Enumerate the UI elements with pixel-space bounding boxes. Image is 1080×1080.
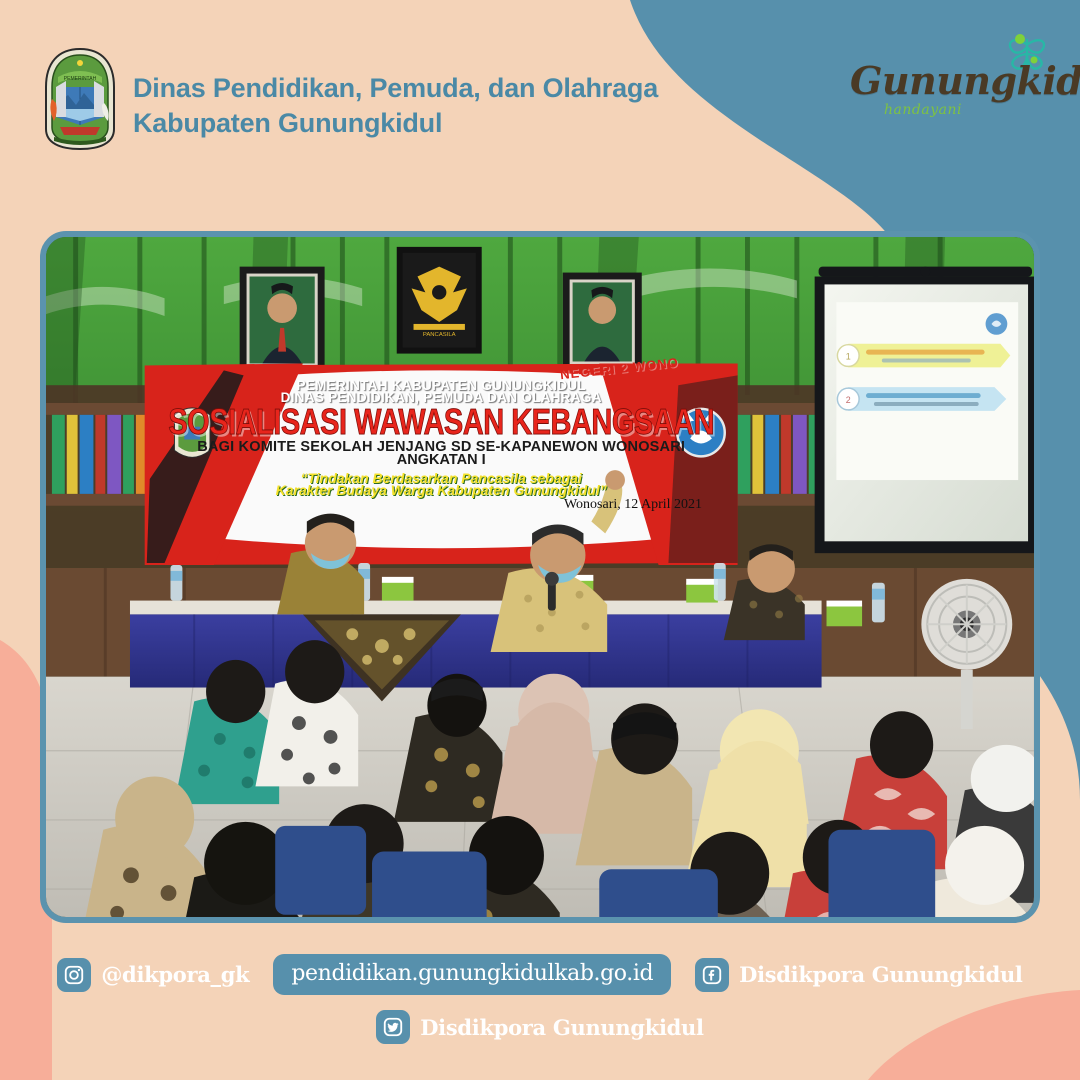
slide-bullet-2: 2 [846, 395, 851, 405]
gunungkidul-brand-logo: Gunungkidul handayani [846, 30, 1056, 130]
projection-screen: 1 2 [815, 267, 1034, 554]
banner-text-layer: NEGERI 2 WONO PEMERINTAH KABUPATEN GUNUN… [145, 363, 738, 567]
page-title-line-1: Dinas Pendidikan, Pemuda, dan Olahraga [133, 71, 693, 106]
facebook-handle[interactable]: Disdikpora Gunungkidul [695, 958, 1022, 992]
poster-header: PEMERINTAH Dinas Pendidikan, Pemuda, dan… [0, 0, 1080, 200]
brand-wordmark: Gunungkidul [850, 58, 1080, 103]
svg-text:PANCASILA: PANCASILA [423, 332, 456, 338]
instagram-icon[interactable] [57, 958, 91, 992]
page-title-line-2: Kabupaten Gunungkidul [133, 106, 693, 141]
social-row-primary: @dikpora_gk pendidikan.gunungkidulkab.go… [0, 954, 1080, 995]
banner-date: Wonosari, 12 April 2021 [564, 497, 702, 513]
header-title-block: Dinas Pendidikan, Pemuda, dan Olahraga K… [133, 71, 693, 141]
poster-canvas: PEMERINTAH Dinas Pendidikan, Pemuda, dan… [0, 0, 1080, 1080]
presidential-portrait [240, 267, 325, 374]
facebook-label: Disdikpora Gunungkidul [739, 962, 1022, 987]
banner-subtitle-2: ANGKATAN I [145, 452, 738, 468]
svg-text:PEMERINTAH: PEMERINTAH [64, 76, 97, 82]
banner-title: SOSIALISASI WAWASAN KEBANGSAAN [145, 403, 738, 444]
banner-quote-2: Karakter Budaya Warga Kabupaten Gunungki… [145, 482, 738, 498]
slide-logo [986, 313, 1008, 335]
brand-tagline: handayani [884, 102, 962, 118]
facebook-icon[interactable] [695, 958, 729, 992]
slide-bullet-1: 1 [846, 352, 851, 362]
garuda-pancasila-emblem: PANCASILA [397, 247, 482, 354]
event-photo: PANCASILA [40, 231, 1040, 923]
twitter-label: Disdikpora Gunungkidul [420, 1015, 703, 1040]
vice-presidential-portrait [563, 273, 642, 372]
poster-footer: @dikpora_gk pendidikan.gunungkidulkab.go… [0, 940, 1080, 1080]
twitter-handle[interactable]: Disdikpora Gunungkidul [376, 1010, 703, 1044]
social-row-secondary: Disdikpora Gunungkidul [0, 1010, 1080, 1044]
website-url-button[interactable]: pendidikan.gunungkidulkab.go.id [273, 954, 671, 995]
instagram-label: @dikpora_gk [101, 962, 249, 987]
gunungkidul-regency-crest: PEMERINTAH [44, 47, 116, 151]
twitter-icon[interactable] [376, 1010, 410, 1044]
instagram-handle[interactable]: @dikpora_gk [57, 958, 249, 992]
